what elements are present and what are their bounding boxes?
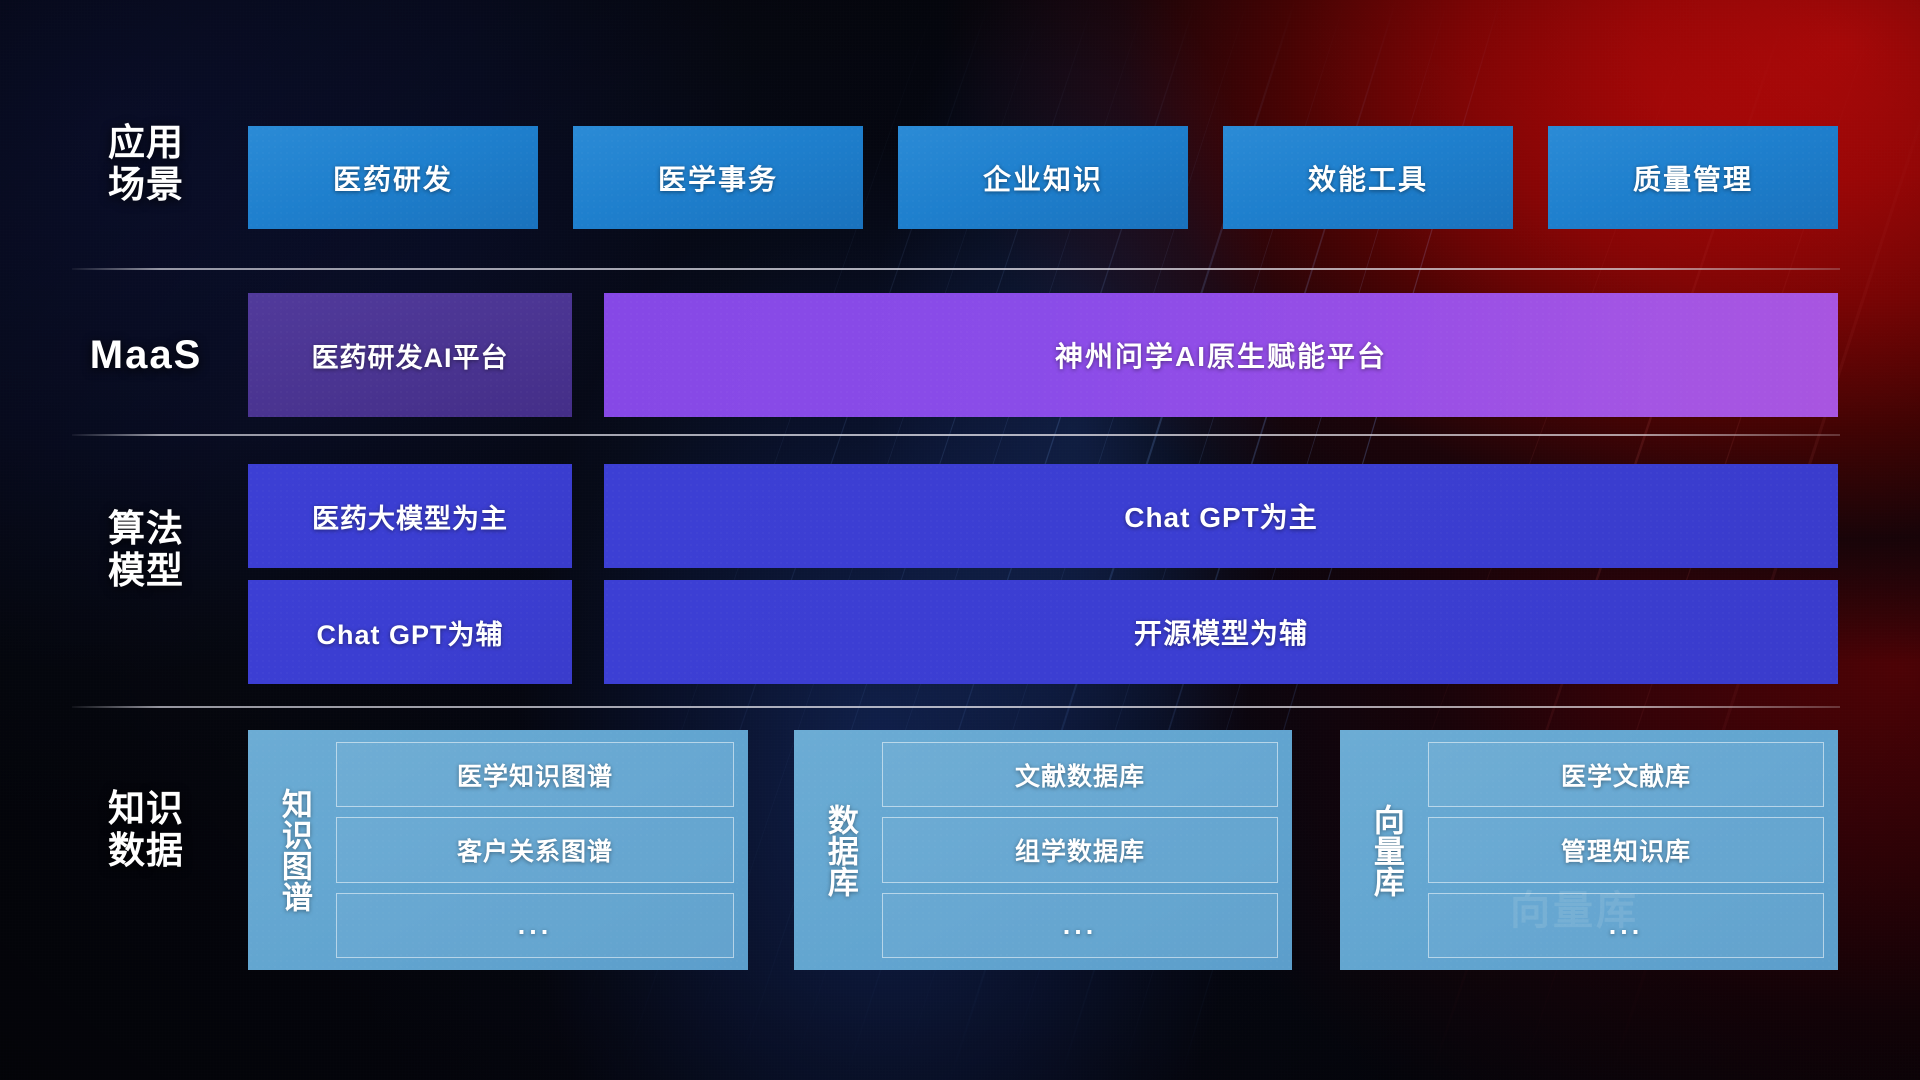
row-label-maas: MaaS xyxy=(48,333,244,379)
diagram-canvas: 应用 场景 医药研发 医学事务 企业知识 效能工具 质量管理 MaaS 医药研发… xyxy=(0,0,1920,1080)
knowledge-item[interactable]: 组学数据库 xyxy=(882,817,1278,882)
row-label-line: 算法 xyxy=(48,508,244,550)
knowledge-item[interactable]: 管理知识库 xyxy=(1428,817,1824,882)
app-box-0[interactable]: 医药研发 xyxy=(248,126,538,229)
row-label-line: MaaS xyxy=(48,333,244,379)
knowledge-group-vector-database[interactable]: 向量库 医学文献库 管理知识库 ... xyxy=(1340,730,1838,970)
row-label-knowledge-data: 知识 数据 xyxy=(48,788,244,872)
algo-box-1[interactable]: Chat GPT为主 xyxy=(604,464,1838,568)
row-label-line: 知识 xyxy=(48,788,244,830)
algo-box-2[interactable]: Chat GPT为辅 xyxy=(248,580,572,684)
algo-box-3[interactable]: 开源模型为辅 xyxy=(604,580,1838,684)
row-label-algorithm-model: 算法 模型 xyxy=(48,508,244,592)
row-label-line: 模型 xyxy=(48,550,244,592)
app-box-3[interactable]: 效能工具 xyxy=(1223,126,1513,229)
knowledge-item[interactable]: 客户关系图谱 xyxy=(336,817,734,882)
knowledge-group-knowledge-graph[interactable]: 知识图谱 医学知识图谱 客户关系图谱 ... xyxy=(248,730,748,970)
app-box-2[interactable]: 企业知识 xyxy=(898,126,1188,229)
row-label-line: 应用 xyxy=(48,122,244,164)
knowledge-group-items: 医学文献库 管理知识库 ... xyxy=(1418,742,1824,958)
app-box-label: 企业知识 xyxy=(983,158,1103,198)
knowledge-item-more[interactable]: ... xyxy=(1428,893,1824,958)
knowledge-item[interactable]: 文献数据库 xyxy=(882,742,1278,807)
algo-box-label: Chat GPT为辅 xyxy=(316,613,503,652)
knowledge-group-title: 数据库 xyxy=(808,742,872,958)
app-box-label: 质量管理 xyxy=(1633,158,1753,198)
algo-box-label: 开源模型为辅 xyxy=(1134,612,1308,652)
app-box-label: 效能工具 xyxy=(1308,158,1428,198)
row-divider-1 xyxy=(72,268,1840,270)
algo-box-label: Chat GPT为主 xyxy=(1124,496,1318,536)
row-label-line: 场景 xyxy=(48,164,244,206)
app-box-1[interactable]: 医学事务 xyxy=(573,126,863,229)
maas-box-label: 医药研发AI平台 xyxy=(312,336,509,375)
knowledge-group-title: 向量库 xyxy=(1354,742,1418,958)
knowledge-group-items: 文献数据库 组学数据库 ... xyxy=(872,742,1278,958)
maas-box-label: 神州问学AI原生赋能平台 xyxy=(1055,335,1387,375)
algo-box-0[interactable]: 医药大模型为主 xyxy=(248,464,572,568)
knowledge-group-title: 知识图谱 xyxy=(262,742,326,958)
app-box-4[interactable]: 质量管理 xyxy=(1548,126,1838,229)
knowledge-item-more[interactable]: ... xyxy=(336,893,734,958)
maas-box-pharma-ai-platform[interactable]: 医药研发AI平台 xyxy=(248,293,572,417)
app-box-label: 医学事务 xyxy=(658,158,778,198)
knowledge-group-database[interactable]: 数据库 文献数据库 组学数据库 ... xyxy=(794,730,1292,970)
row-label-line: 数据 xyxy=(48,830,244,872)
knowledge-item[interactable]: 医学文献库 xyxy=(1428,742,1824,807)
row-label-application-scenarios: 应用 场景 xyxy=(48,122,244,206)
maas-box-shenzhou-wenxue-platform[interactable]: 神州问学AI原生赋能平台 xyxy=(604,293,1838,417)
app-box-label: 医药研发 xyxy=(333,158,453,198)
knowledge-item-more[interactable]: ... xyxy=(882,893,1278,958)
knowledge-item[interactable]: 医学知识图谱 xyxy=(336,742,734,807)
knowledge-group-items: 医学知识图谱 客户关系图谱 ... xyxy=(326,742,734,958)
row-divider-2 xyxy=(72,434,1840,436)
algo-box-label: 医药大模型为主 xyxy=(312,497,508,536)
row-divider-3 xyxy=(72,706,1840,708)
